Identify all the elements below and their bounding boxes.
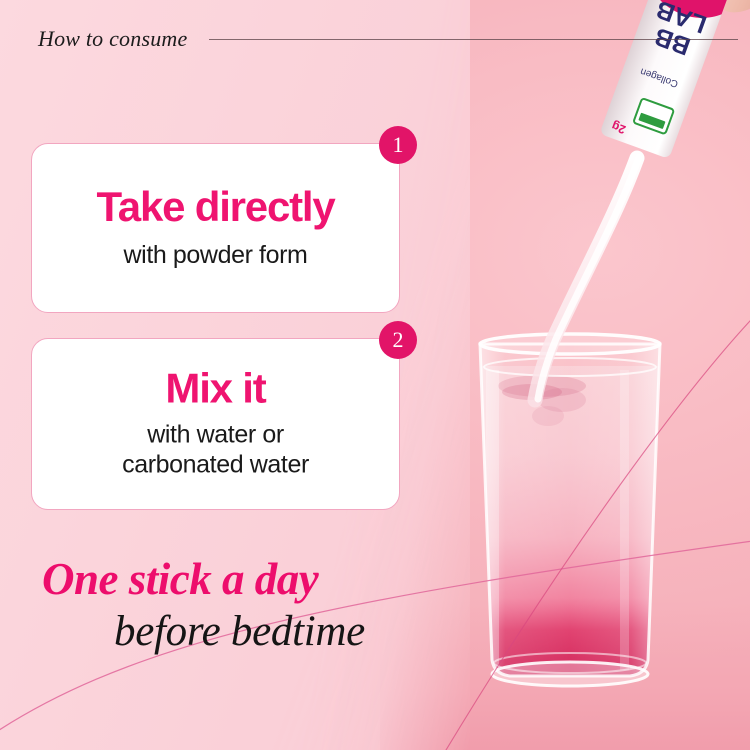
step-card-1-title: Take directly xyxy=(50,186,381,229)
step-card-2-content: Mix it with water or carbonated water xyxy=(32,368,399,481)
header: How to consume xyxy=(38,26,738,52)
step-card-1-subtitle: with powder form xyxy=(50,240,381,271)
page-title: How to consume xyxy=(38,26,187,52)
promo-graphic: BB LAB Collagen 2g How to consume 1 xyxy=(0,0,750,750)
step-card-1-content: Take directly with powder form xyxy=(32,186,399,270)
step-card-2-subtitle-line-1: with water or xyxy=(50,419,381,450)
tagline-line-1: One stick a day xyxy=(42,556,472,603)
step-card-2[interactable]: 2 Mix it with water or carbonated water xyxy=(31,338,400,510)
step-card-2-title: Mix it xyxy=(50,368,381,411)
tagline: One stick a day before bedtime xyxy=(42,556,472,654)
step-card-1[interactable]: 1 Take directly with powder form xyxy=(31,143,400,313)
header-divider xyxy=(209,39,738,40)
tagline-line-2: before bedtime xyxy=(114,609,472,654)
step-badge-2: 2 xyxy=(379,321,417,359)
step-badge-1: 1 xyxy=(379,126,417,164)
step-card-2-subtitle-line-2: carbonated water xyxy=(50,450,381,481)
